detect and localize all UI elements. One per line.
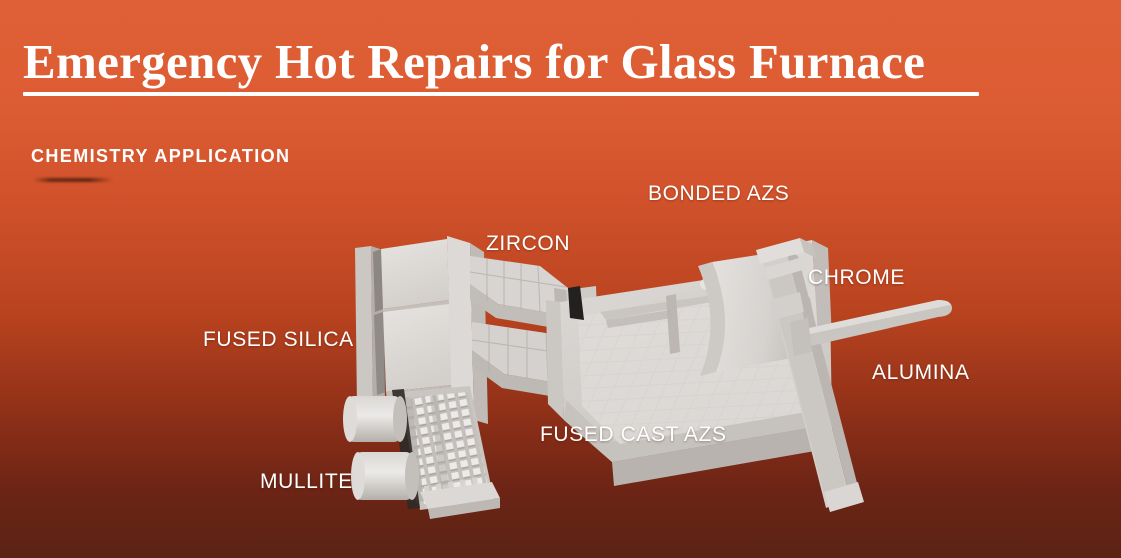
title-underline	[23, 92, 979, 96]
eyebrow-accent-rule	[33, 178, 113, 182]
callout-label-fused-cast-azs: FUSED CAST AZS	[540, 423, 727, 447]
callout-label-fused-silica: FUSED SILICA	[203, 328, 354, 352]
mullite-port-lower	[351, 452, 419, 500]
section-eyebrow-label: CHEMISTRY APPLICATION	[31, 146, 290, 167]
callout-label-bonded-azs: BONDED AZS	[648, 182, 789, 206]
mullite-port-upper	[343, 396, 407, 442]
callout-label-chrome: CHROME	[808, 266, 905, 290]
page-title: Emergency Hot Repairs for Glass Furnace	[23, 34, 979, 90]
callout-label-alumina: ALUMINA	[872, 361, 970, 385]
eyebrow-block: CHEMISTRY APPLICATION	[31, 146, 290, 182]
title-block: Emergency Hot Repairs for Glass Furnace	[23, 34, 979, 96]
callout-label-zircon: ZIRCON	[486, 232, 570, 256]
callout-label-mullite: MULLITE	[260, 470, 353, 494]
